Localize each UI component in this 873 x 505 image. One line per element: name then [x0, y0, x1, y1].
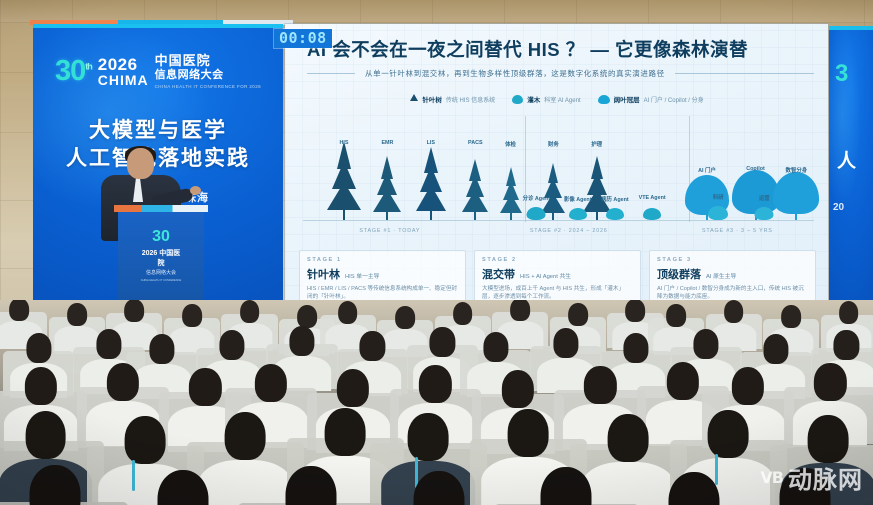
audience-head	[666, 304, 686, 327]
audience-head	[255, 364, 287, 402]
anniversary-suffix: th	[85, 61, 92, 71]
audience-head	[9, 300, 29, 321]
slide-subtitle: 从单一针叶林到混交林，再到生物多样性顶级群落，这是数字化系统的真实演进路径	[365, 68, 665, 79]
audience-head	[666, 362, 698, 400]
tree-trunk	[596, 212, 598, 220]
stage-card-heading: 混交带	[482, 266, 515, 282]
plot-baseline	[303, 220, 814, 221]
stage-card-heading-row: 针叶林HIS 单一主导	[307, 266, 458, 282]
tree-conifer: 体检	[499, 166, 522, 220]
tree-conifer: HIS	[327, 142, 361, 220]
audience-head	[764, 334, 789, 364]
tree-shrub: 病历 Agent	[606, 202, 624, 220]
audience-member	[380, 471, 497, 505]
tree-tier	[506, 167, 516, 186]
stage-card-tag: HIS + AI Agent 共生	[520, 271, 571, 280]
conference-photo: 30th 2026 CHIMA 中国医院 信息网络大会 CHINA HEALTH…	[0, 0, 873, 505]
audience-head	[30, 465, 81, 505]
audience-head	[290, 326, 315, 356]
legend-item: 阔叶冠层AI 门户 / Copilot / 分身	[598, 94, 704, 104]
shrub-canopy	[606, 208, 624, 220]
watermark: VB 动脉网	[760, 460, 863, 495]
audience-head	[125, 416, 166, 464]
audience-head	[107, 363, 139, 401]
tree-conifer: PACS	[462, 159, 489, 220]
tree-conifer: EMR	[373, 156, 401, 220]
legend-desc: 科室 AI Agent	[544, 95, 580, 104]
forest-succession-plot: HISEMRLISPACS体检财务护理分诊 Agent影像 Agent病历 Ag…	[303, 112, 814, 234]
tree-label: EMR	[381, 140, 393, 146]
audience-head	[839, 301, 859, 324]
tree-shrub: 分诊 Agent	[527, 201, 546, 220]
slide-legend: 针叶树传统 HIS 信息系统灌木科室 AI Agent阔叶冠层AI 门户 / C…	[285, 94, 828, 104]
presentation-slide: AI 会不会在一夜之间替代 HIS ？ — 它更像森林演替 从单一针叶林到混交林…	[285, 24, 828, 320]
speaker-head	[127, 148, 154, 179]
legend-name: 针叶树	[422, 94, 442, 104]
banner-right-year: 20	[833, 202, 844, 213]
shrub-canopy	[643, 208, 661, 220]
tree-trunk	[430, 211, 432, 220]
stage-card-kicker: STAGE 3	[657, 257, 808, 263]
audience-head	[781, 305, 801, 328]
audience-head	[285, 466, 336, 505]
watermark-logo: VB	[760, 468, 783, 487]
shrub-icon	[512, 95, 523, 104]
tree-label: AI 门户	[698, 166, 716, 174]
audience-head	[694, 329, 719, 359]
tree-label: 影像 Agent	[564, 195, 592, 203]
tree-trunk	[510, 213, 512, 220]
audience-head	[395, 306, 415, 329]
chima-wordmark: 2026 CHIMA	[98, 56, 149, 87]
audience-head	[430, 327, 455, 357]
audience-head	[182, 304, 202, 327]
audience-head	[623, 333, 648, 363]
tree-label: 病历 Agent	[601, 195, 629, 203]
audience-head	[419, 365, 451, 403]
conifer-icon	[409, 94, 418, 104]
tree-label: 财务	[548, 140, 559, 148]
stage-card-tag: HIS 单一主导	[345, 271, 379, 280]
legend-desc: AI 门户 / Copilot / 分身	[644, 95, 704, 104]
audience-head	[158, 470, 209, 505]
stage-axis-label: STAGE #3 · 3 – 5 YRS	[702, 228, 773, 234]
org-line-2: 信息网络大会	[155, 69, 261, 82]
slide-subtitle-row: 从单一针叶林到混交林，再到生物多样性顶级群落，这是数字化系统的真实演进路径	[307, 68, 814, 79]
audience-head	[453, 302, 473, 325]
tree-label: VTE Agent	[639, 195, 666, 201]
audience-head	[337, 369, 369, 407]
tree-label: 护理	[591, 140, 602, 148]
audience-head	[608, 414, 649, 462]
tree-label: LIS	[427, 140, 435, 146]
audience-head	[225, 412, 266, 460]
tree-label: 科研	[713, 193, 724, 201]
tree-shrub: 运营	[755, 201, 774, 220]
tree-label: 分诊 Agent	[523, 194, 551, 202]
subtitle-rule-right	[675, 73, 814, 74]
audience-head	[96, 329, 121, 359]
audience-member	[252, 466, 369, 505]
slide-title: AI 会不会在一夜之间替代 HIS ？ — 它更像森林演替	[307, 36, 814, 62]
audience-member	[0, 465, 114, 505]
podium-org: 信息网络大会	[140, 269, 183, 276]
audience-head	[510, 300, 530, 321]
shrub-canopy	[755, 207, 774, 220]
audience-head	[568, 303, 588, 326]
audience-head	[325, 408, 366, 456]
anniversary-number: 30	[55, 55, 85, 87]
stage-card-kicker: STAGE 1	[307, 257, 458, 263]
banner-year: 2026	[98, 56, 138, 73]
tree-tier	[424, 147, 438, 173]
tree-label: Copilot	[746, 166, 765, 172]
stage-card-heading: 顶级群落	[657, 266, 701, 282]
audience-head	[814, 363, 846, 401]
stage-card-heading-row: 混交带HIS + AI Agent 共生	[482, 266, 633, 282]
banner-title-line-1: 大模型与医学	[33, 117, 283, 145]
shrub-canopy	[569, 208, 587, 220]
subtitle-rule-left	[307, 73, 355, 74]
banner-right-anniversary: 3	[835, 60, 848, 88]
tree-trunk	[552, 213, 554, 220]
tree-conifer: LIS	[415, 148, 446, 220]
audience	[0, 300, 873, 505]
banner-right-title-char: 人	[837, 146, 856, 173]
audience-head	[508, 409, 549, 457]
banner-org-name: 中国医院 信息网络大会 CHINA HEALTH IT CONFERENCE F…	[155, 54, 261, 89]
tree-trunk	[343, 210, 345, 220]
audience-head	[408, 413, 449, 461]
audience-head	[483, 332, 508, 362]
audience-head	[189, 368, 221, 406]
broadleaf-icon	[598, 95, 610, 104]
legend-name: 灌木	[527, 94, 540, 104]
legend-item: 针叶树传统 HIS 信息系统	[409, 94, 495, 104]
stage-axis-label: STAGE #2 · 2024 – 2026	[530, 228, 608, 234]
tree-label: PACS	[468, 140, 483, 146]
audience-head	[360, 331, 385, 361]
timer-badge: 00:08	[274, 29, 332, 48]
tree-trunk	[474, 212, 476, 220]
audience-member	[508, 467, 625, 505]
tree-tier	[548, 163, 558, 183]
audience-head	[502, 370, 534, 408]
tree-tier	[381, 156, 393, 179]
audience-head	[808, 415, 849, 463]
tree-label: 数智分身	[786, 166, 808, 174]
audience-head	[553, 328, 578, 358]
legend-desc: 传统 HIS 信息系统	[446, 95, 495, 104]
podium-org-en: CHINA HEALTH IT CONFERENCE	[140, 279, 183, 282]
tree-tier	[591, 156, 603, 179]
org-line-3: CHINA HEALTH IT CONFERENCE FOR 2026	[155, 84, 261, 89]
speaker-hand	[190, 186, 201, 195]
audience-head	[149, 334, 174, 364]
audience-head	[297, 305, 317, 328]
podium-year: 2026 中国医院	[140, 248, 183, 268]
audience-head	[584, 366, 616, 404]
audience-head	[125, 300, 145, 322]
chima-logo: 30th 2026 CHIMA 中国医院 信息网络大会 CHINA HEALTH…	[55, 54, 261, 89]
podium-anniversary: 30	[140, 229, 183, 245]
shrub-canopy	[708, 206, 728, 220]
audience-head	[668, 472, 719, 505]
tree-broadleaf: 数智分身	[773, 172, 819, 220]
anniversary-mark: 30th	[55, 57, 92, 86]
audience-member	[125, 470, 242, 505]
org-line-1: 中国医院	[155, 54, 261, 69]
audience-head	[708, 410, 749, 458]
tree-trunk	[386, 212, 388, 220]
legend-item: 灌木科室 AI Agent	[512, 94, 580, 104]
podium-top-strip	[114, 205, 208, 212]
audience-head	[732, 367, 764, 405]
tree-shrub: VTE Agent	[643, 202, 661, 220]
audience-head	[724, 300, 744, 323]
tree-label: 体检	[505, 140, 516, 148]
tree-shrub: 科研	[708, 200, 728, 220]
audience-head	[219, 330, 244, 360]
broadleaf-canopy	[773, 172, 819, 214]
audience-member	[635, 472, 752, 505]
watermark-text: 动脉网	[788, 460, 863, 495]
tree-label: HIS	[339, 140, 348, 146]
audience-head	[25, 367, 57, 405]
audience-head	[25, 411, 66, 459]
stage-card-heading-row: 顶级群落AI 原生主导	[657, 266, 808, 282]
tree-label: 运营	[759, 194, 770, 202]
conference-banner-right: 3 人 20	[829, 26, 873, 322]
tree-shrub: 影像 Agent	[569, 202, 587, 220]
tree-tier	[469, 159, 481, 181]
banner-chima: CHIMA	[98, 73, 149, 87]
audience-head	[338, 301, 358, 324]
audience-head	[67, 303, 87, 326]
shrub-canopy	[527, 207, 546, 220]
audience-head	[541, 467, 592, 505]
podium-logo: 30 2026 中国医院 信息网络大会 CHINA HEALTH IT CONF…	[140, 229, 183, 282]
audience-head	[413, 471, 464, 505]
audience-head	[834, 330, 859, 360]
stage-card-kicker: STAGE 2	[482, 257, 633, 263]
audience-head	[240, 300, 260, 323]
stage-card-tag: AI 原生主导	[706, 271, 736, 280]
legend-name: 阔叶冠层	[614, 94, 640, 104]
stage-card-heading: 针叶林	[307, 266, 340, 282]
audience-head	[26, 333, 51, 363]
stage-axis-label: STAGE #1 · TODAY	[359, 228, 420, 234]
audience-head	[626, 300, 646, 322]
